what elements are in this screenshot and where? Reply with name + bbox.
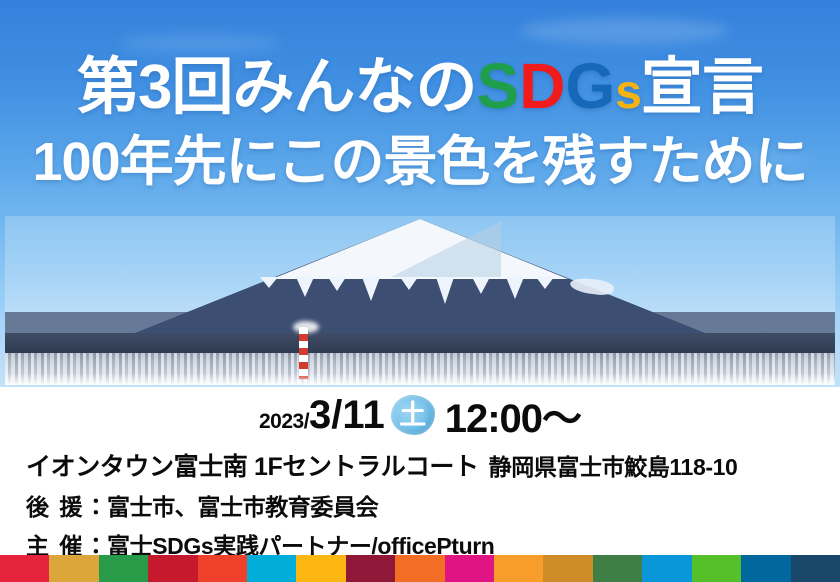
- sdg-letter-s-lower: s: [615, 69, 641, 117]
- venue-row: イオンタウン富士南 1Fセントラルコート静岡県富士市鮫島118-10: [26, 447, 840, 483]
- event-date-row: 2023/ 3/11 土 12:00〜: [0, 389, 840, 441]
- snow-tongue: [536, 277, 554, 289]
- sdg-letter-g: G: [565, 54, 615, 118]
- snow-tongue: [296, 277, 314, 297]
- smokestack-icon: [299, 327, 308, 379]
- sdg-swatch-13: [593, 555, 642, 582]
- title-prefix: 第3回みんなの: [77, 57, 476, 119]
- sdg-swatch-12: [543, 555, 592, 582]
- sdg-letter-d: D: [519, 54, 565, 118]
- sdg-swatch-5: [198, 555, 247, 582]
- snow-tongue: [506, 277, 524, 299]
- event-poster: 第3回みんなのSDGs宣言 100年先にこの景色を残すために 2023/ 3/1…: [0, 0, 840, 582]
- sdg-swatch-9: [395, 555, 444, 582]
- snow-tongue: [400, 277, 418, 290]
- sdg-swatch-6: [247, 555, 296, 582]
- day-of-week-label: 土: [399, 402, 426, 429]
- snow-tongue: [472, 277, 490, 294]
- title-line-2: 100年先にこの景色を残すために: [0, 135, 840, 189]
- snow-tongue: [436, 277, 454, 304]
- venue-name: イオンタウン富士南 1Fセントラルコート: [26, 453, 479, 481]
- sdg-swatch-10: [445, 555, 494, 582]
- sdg-swatch-3: [99, 555, 148, 582]
- poster-title-block: 第3回みんなのSDGs宣言 100年先にこの景色を残すために: [0, 0, 840, 189]
- sdg-color-bar: [0, 555, 840, 582]
- photo-bottom-fade: [5, 373, 835, 385]
- credit-row-support: 後 援：富士市、富士市教育委員会: [26, 488, 840, 522]
- sdg-swatch-16: [741, 555, 790, 582]
- snow-tongue: [328, 277, 346, 291]
- support-label: 後 援: [26, 494, 84, 520]
- sdg-swatch-17: [791, 555, 840, 582]
- sdg-swatch-11: [494, 555, 543, 582]
- day-of-week-badge: 土: [391, 395, 435, 435]
- sdg-swatch-7: [296, 555, 345, 582]
- sdg-swatch-4: [148, 555, 197, 582]
- sdg-swatch-1: [0, 555, 49, 582]
- event-month-day: 3/11: [309, 393, 385, 438]
- venue-address: 静岡県富士市鮫島118-10: [489, 454, 738, 480]
- mount-fuji-cone: [100, 219, 740, 347]
- event-start-time: 12:00〜: [445, 386, 581, 444]
- support-separator: ：: [84, 494, 107, 520]
- event-year: 2023/: [259, 410, 309, 434]
- snow-tongue: [362, 277, 380, 301]
- foothill-treeline: [5, 333, 835, 355]
- snow-tongue: [260, 277, 278, 288]
- mountain-photo-region: [5, 216, 835, 385]
- event-info-panel: 2023/ 3/11 土 12:00〜 イオンタウン富士南 1Fセントラルコート…: [0, 387, 840, 555]
- sdg-swatch-15: [692, 555, 741, 582]
- sdg-letter-s: S: [477, 54, 520, 118]
- sdg-swatch-14: [642, 555, 691, 582]
- sdg-swatch-2: [49, 555, 98, 582]
- fuji-snow-shadow: [391, 221, 501, 277]
- sdg-swatch-8: [346, 555, 395, 582]
- title-suffix: 宣言: [641, 57, 763, 119]
- title-line-1: 第3回みんなのSDGs宣言: [0, 54, 840, 119]
- support-value: 富士市、富士市教育委員会: [107, 494, 378, 520]
